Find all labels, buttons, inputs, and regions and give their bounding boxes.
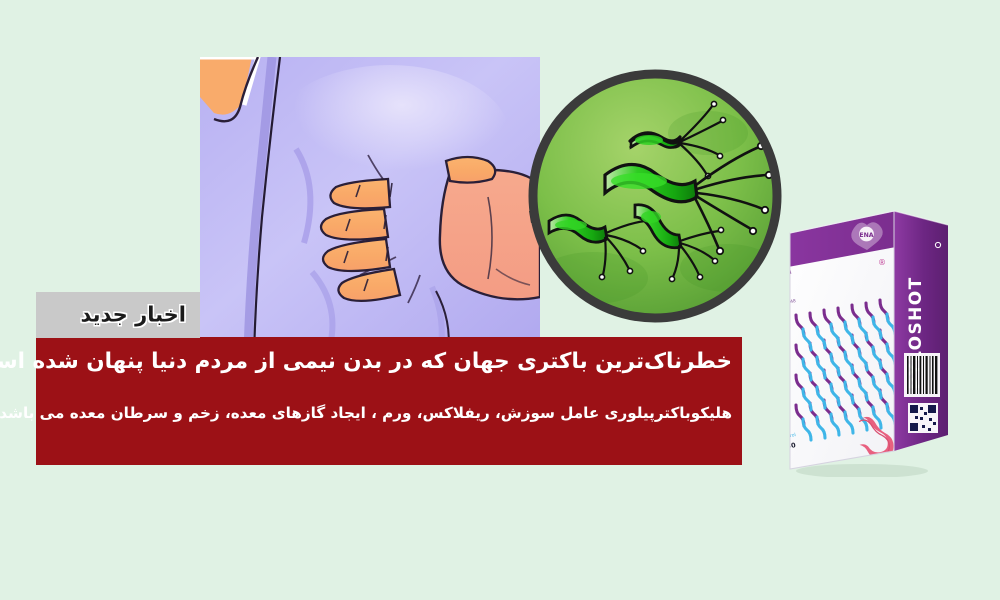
person-illustration-svg bbox=[200, 57, 540, 354]
person-holding-stomach-illustration bbox=[200, 57, 540, 354]
ena-logo-text: ENA bbox=[859, 232, 873, 239]
magnified-bacteria-circle bbox=[523, 63, 788, 328]
banner-subtext: هلیکوباکترپیلوری عامل سوزش، ریفلاکس، ورم… bbox=[46, 402, 732, 425]
brand-registered-mark: ® bbox=[878, 258, 886, 267]
box-shadow bbox=[796, 464, 928, 477]
advertisement-banner: اخبار جدید خطرناک‌ترین باکتری جهان که در… bbox=[0, 0, 1000, 600]
new-news-tag: اخبار جدید bbox=[36, 292, 200, 338]
barcode-icon bbox=[904, 353, 940, 397]
banner-headline: خطرناک‌ترین باکتری جهان که در بدن نیمی ا… bbox=[46, 346, 732, 378]
headline-banner: خطرناک‌ترین باکتری جهان که در بدن نیمی ا… bbox=[36, 337, 742, 465]
product-box-pyloshot[interactable]: PYLOSHOT bbox=[782, 203, 962, 477]
qr-code-icon bbox=[908, 403, 938, 433]
new-news-tag-label: اخبار جدید bbox=[81, 303, 186, 327]
